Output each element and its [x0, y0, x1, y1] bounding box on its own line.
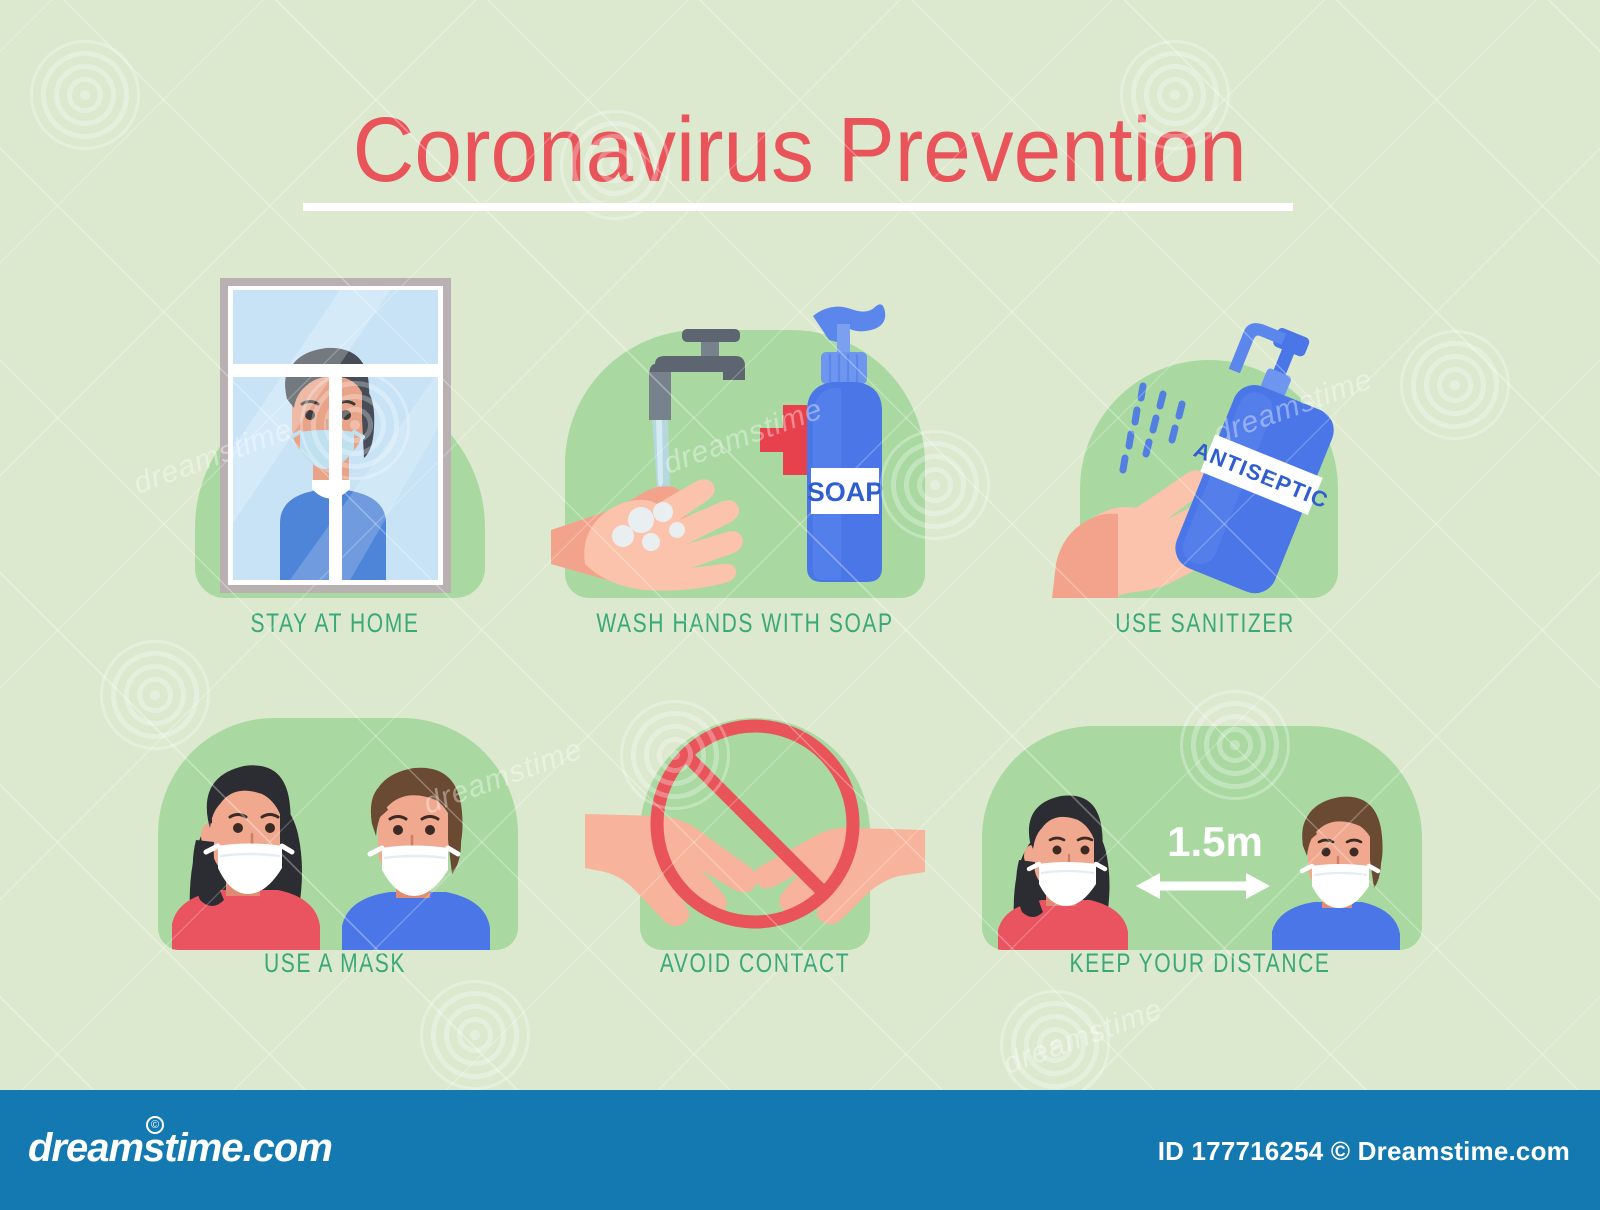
step-card-wash-hands: SOAP WASH HANDS WITH SOAP: [545, 268, 945, 668]
page-title-wrapper: Coronavirus Prevention: [0, 104, 1600, 196]
person-at-window-icon: [140, 268, 530, 598]
distance-label: 1.5m: [1155, 818, 1275, 866]
page-title: Coronavirus Prevention: [353, 104, 1247, 196]
poster-canvas: Coronavirus Prevention: [0, 0, 1600, 1210]
wash-hands-illustration: SOAP: [545, 268, 945, 598]
faucet-hands-soap-icon: SOAP: [545, 268, 945, 598]
step-caption-keep-your-distance: KEEP YOUR DISTANCE: [1013, 948, 1387, 979]
use-sanitizer-illustration: ANTISEPTIC: [1010, 268, 1400, 598]
two-masked-people-icon: [130, 700, 540, 950]
step-card-stay-at-home: STAY AT HOME: [140, 268, 530, 668]
step-caption-stay-at-home: STAY AT HOME: [183, 608, 487, 639]
stay-at-home-illustration: [140, 268, 530, 598]
step-caption-avoid-contact: AVOID CONTACT: [607, 948, 903, 979]
watermark-spiral: [1400, 330, 1510, 440]
step-card-avoid-contact: AVOID CONTACT: [565, 700, 945, 1030]
no-handshake-icon: [565, 700, 945, 950]
use-a-mask-illustration: [130, 700, 540, 950]
step-caption-use-a-mask: USE A MASK: [175, 948, 495, 979]
avoid-contact-illustration: [565, 700, 945, 950]
keep-distance-illustration: 1.5m: [960, 700, 1440, 950]
sanitizer-bottle-icon: ANTISEPTIC: [1010, 268, 1400, 598]
step-caption-wash-hands: WASH HANDS WITH SOAP: [589, 608, 901, 639]
registered-mark-icon: ©: [146, 1116, 164, 1134]
dreamstime-footer-bar: dreamstime.com © ID 177716254 © Dreamsti…: [0, 1090, 1600, 1210]
dreamstime-logo[interactable]: dreamstime.com: [28, 1126, 332, 1171]
step-card-use-sanitizer: ANTISEPTIC USE SANITIZER: [1010, 268, 1400, 668]
soap-label-text: SOAP: [807, 477, 884, 507]
step-caption-use-sanitizer: USE SANITIZER: [1053, 608, 1357, 639]
step-card-use-a-mask: USE A MASK: [130, 700, 540, 1030]
step-card-keep-your-distance: 1.5m KEEP YOUR DISTANCE: [960, 700, 1440, 1030]
image-id-credit: ID 177716254 © Dreamstime.com: [1158, 1136, 1570, 1167]
title-underline: [303, 203, 1293, 211]
